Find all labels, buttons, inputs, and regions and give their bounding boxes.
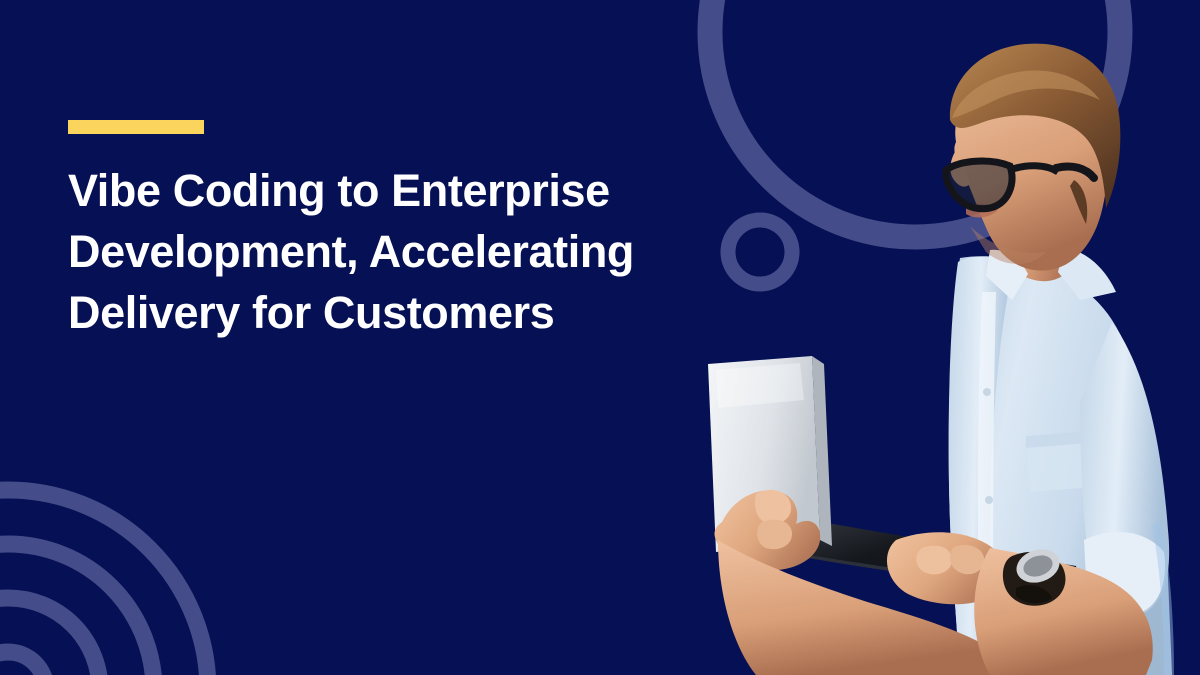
hero-banner: Vibe Coding to Enterprise Development, A… bbox=[0, 0, 1200, 675]
corner-arcs-decoration bbox=[0, 490, 208, 675]
shirt-button bbox=[983, 388, 991, 396]
right-finger bbox=[916, 546, 952, 575]
left-finger bbox=[757, 520, 792, 550]
shirt-button bbox=[985, 496, 993, 504]
accent-bar bbox=[68, 120, 204, 134]
page-title: Vibe Coding to Enterprise Development, A… bbox=[68, 160, 728, 343]
hero-photo-man-with-laptop bbox=[660, 0, 1200, 675]
headline-block: Vibe Coding to Enterprise Development, A… bbox=[68, 120, 728, 343]
